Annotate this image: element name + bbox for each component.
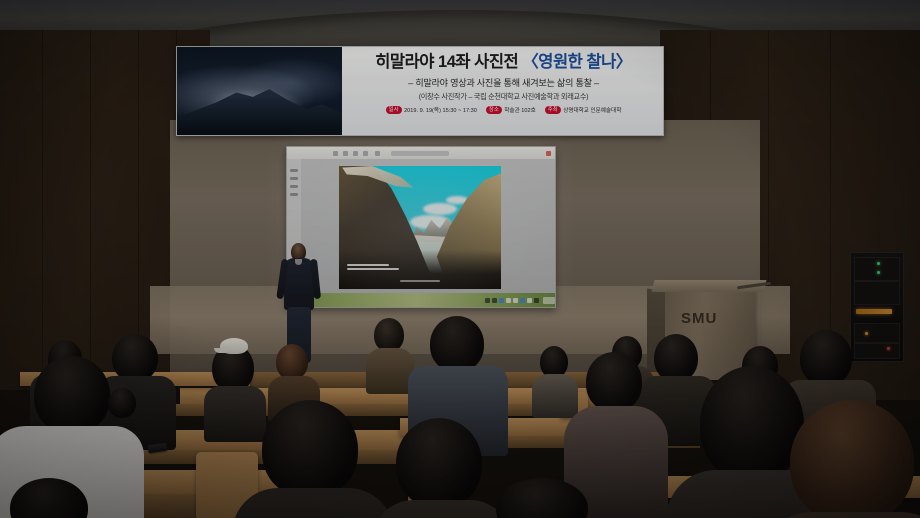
chip-value: 2019. 9. 19(목) 15:30 ~ 17:30 xyxy=(404,106,477,114)
lecture-hall-photo: 히말라야 14좌 사진전 〈영원한 찰나〉 – 히말라야 영상과 사진을 통해 … xyxy=(0,0,920,518)
forward-icon xyxy=(343,151,348,156)
banner-meta-location: 장소 학술관 102호 xyxy=(486,106,536,114)
event-banner: 히말라야 14좌 사진전 〈영원한 찰나〉 – 히말라야 영상과 사진을 통해 … xyxy=(176,46,664,136)
network-icon[interactable] xyxy=(485,298,490,303)
volume-icon[interactable] xyxy=(492,298,497,303)
banner-meta-host: 주최 상명대학교 인문예술대학 xyxy=(545,106,622,114)
chip-value: 상명대학교 인문예술대학 xyxy=(563,106,621,114)
projected-photo xyxy=(339,166,501,289)
led-green-icon xyxy=(877,262,880,265)
head xyxy=(262,400,358,498)
address-bar xyxy=(391,151,449,156)
podium-logo: SMU xyxy=(681,310,717,327)
tray-icon[interactable] xyxy=(534,298,539,303)
presenter-torso xyxy=(284,258,314,310)
app-icon[interactable] xyxy=(506,298,511,303)
app-icon[interactable] xyxy=(513,298,518,303)
projection-screen xyxy=(286,146,556,308)
torso xyxy=(232,488,394,518)
head xyxy=(654,334,698,382)
taskbar-clock[interactable] xyxy=(543,297,555,304)
os-taskbar[interactable] xyxy=(287,293,556,307)
menu-icon xyxy=(375,151,380,156)
chip-label: 장소 xyxy=(486,106,502,114)
head xyxy=(700,366,804,482)
photo-footer-text xyxy=(400,280,440,282)
banner-subtitle: – 히말라야 영상과 사진을 통해 새겨보는 삶의 통찰 – xyxy=(408,75,599,89)
led-red-icon xyxy=(887,347,890,350)
torso xyxy=(366,348,414,394)
presenter-collar xyxy=(295,259,302,265)
torso xyxy=(532,374,578,418)
head xyxy=(112,334,158,382)
head xyxy=(34,356,110,434)
led-green-icon xyxy=(877,271,880,274)
head xyxy=(108,388,136,418)
head xyxy=(374,318,404,352)
head xyxy=(430,316,484,372)
rack-display-strip xyxy=(856,309,892,314)
app-window-body xyxy=(287,159,555,293)
back-icon xyxy=(333,151,338,156)
refresh-icon xyxy=(353,151,358,156)
head xyxy=(790,400,914,518)
banner-title-main: 히말라야 14좌 사진전 xyxy=(375,53,522,71)
head xyxy=(800,330,852,386)
chip-value: 학술관 102호 xyxy=(504,106,535,114)
head xyxy=(276,344,308,380)
input-method-icon[interactable] xyxy=(499,298,504,303)
led-amber-icon xyxy=(865,332,868,335)
home-icon xyxy=(363,151,368,156)
app-icon[interactable] xyxy=(527,298,532,303)
banner-credit: (이창수 사진작가 – 국립 순천대학교 사진예술학과 외래교수) xyxy=(419,92,589,102)
close-icon xyxy=(546,151,551,156)
chip-label: 일시 xyxy=(386,106,402,114)
torso xyxy=(204,386,266,442)
banner-mountain-photo xyxy=(177,47,342,135)
torso xyxy=(372,500,512,518)
banner-title-highlight: 〈영원한 찰나〉 xyxy=(522,53,631,71)
photo-caption xyxy=(347,264,399,270)
av-equipment-rack xyxy=(850,252,904,362)
head xyxy=(396,418,482,508)
banner-meta-datetime: 일시 2019. 9. 19(목) 15:30 ~ 17:30 xyxy=(386,106,477,114)
banner-title: 히말라야 14좌 사진전 〈영원한 찰나〉 xyxy=(375,54,632,71)
cap-brim xyxy=(214,348,230,353)
chip-label: 주최 xyxy=(545,106,561,114)
app-icon[interactable] xyxy=(520,298,525,303)
head xyxy=(586,352,642,412)
banner-meta-row: 일시 2019. 9. 19(목) 15:30 ~ 17:30 장소 학술관 1… xyxy=(386,106,622,114)
banner-text-block: 히말라야 14좌 사진전 〈영원한 찰나〉 – 히말라야 영상과 사진을 통해 … xyxy=(342,47,663,135)
